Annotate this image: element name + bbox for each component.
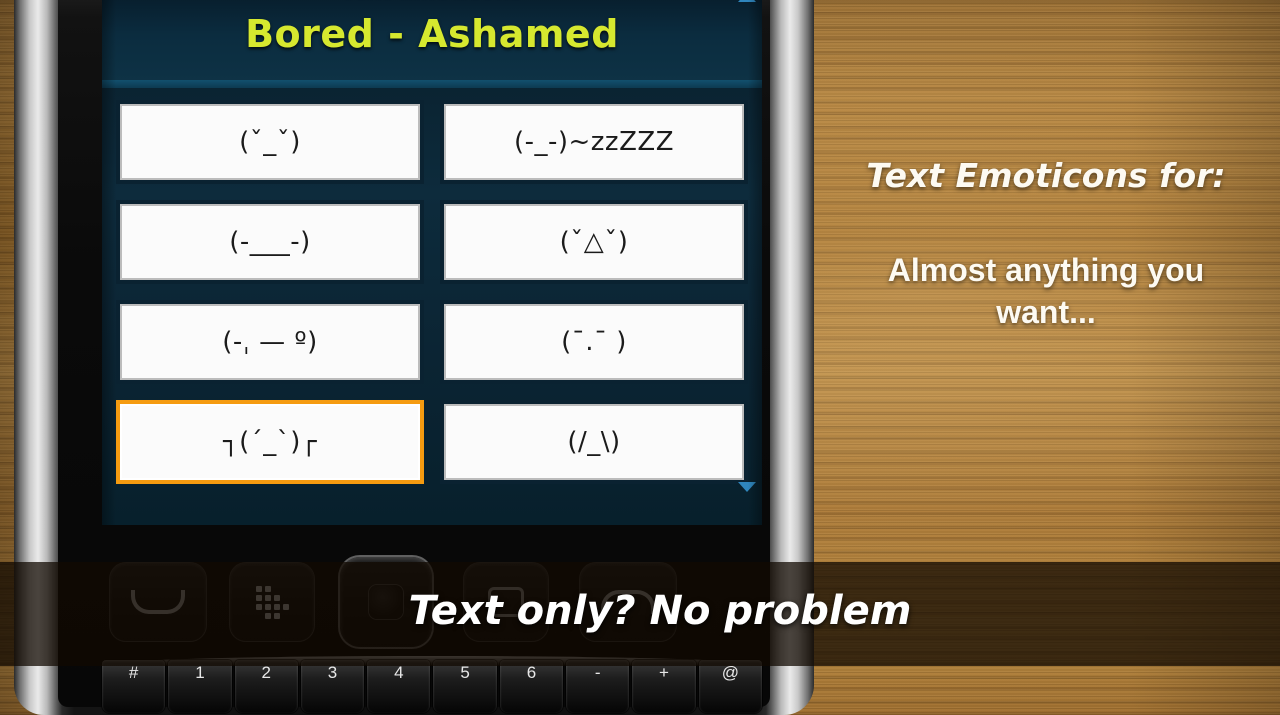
- app-viewport: Text Emoticons Bored - Ashamed (ˇ_ˇ) (-_…: [102, 0, 762, 525]
- screenshot-stage: Text Emoticons Bored - Ashamed (ˇ_ˇ) (-_…: [0, 0, 1280, 715]
- promo-headline: Text Emoticons for:: [856, 155, 1236, 197]
- key-at[interactable]: @: [699, 660, 762, 713]
- phone-keyboard: # 1 2 3 4 5 6 - + @: [102, 660, 762, 715]
- key-1[interactable]: 1: [168, 660, 231, 713]
- key-3[interactable]: 3: [301, 660, 364, 713]
- key-2[interactable]: 2: [235, 660, 298, 713]
- key-plus[interactable]: +: [632, 660, 695, 713]
- promo-copy: Text Emoticons for: Almost anything you …: [856, 155, 1236, 334]
- key-4[interactable]: 4: [367, 660, 430, 713]
- key-5[interactable]: 5: [433, 660, 496, 713]
- phone-screen: Text Emoticons Bored - Ashamed (ˇ_ˇ) (-_…: [102, 0, 762, 525]
- key-minus[interactable]: -: [566, 660, 629, 713]
- caption-text: Text only? No problem: [0, 588, 1280, 634]
- key-6[interactable]: 6: [500, 660, 563, 713]
- screen-edge-shading: [102, 0, 762, 525]
- key-hash[interactable]: #: [102, 660, 165, 713]
- promo-subhead: Almost anything you want...: [856, 249, 1236, 333]
